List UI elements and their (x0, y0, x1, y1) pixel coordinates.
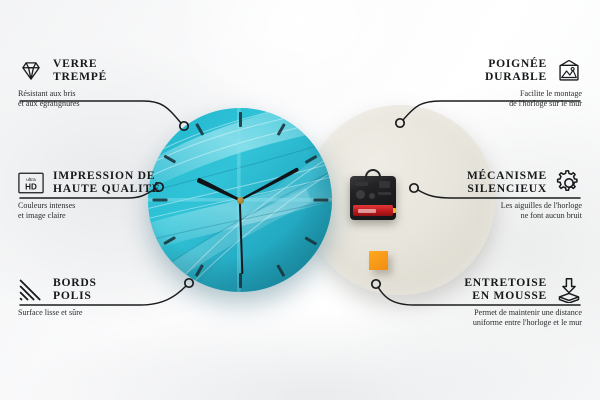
diamond-icon (18, 58, 44, 84)
feature-description: Les aiguilles de l'horloge ne font aucun… (392, 201, 582, 222)
foam-spacer-icon (556, 277, 582, 303)
feature-bords-polis[interactable]: BORDS POLIS Surface lisse et sûre (18, 277, 188, 318)
feature-mecanisme-silencieux[interactable]: MÉCANISME SILENCIEUX Les aiguilles de l'… (392, 170, 582, 222)
feature-title: MÉCANISME SILENCIEUX (467, 170, 547, 196)
feature-title: VERRE TREMPÉ (53, 58, 107, 84)
feature-description: Résistant aux bris et aux égratignures (18, 89, 188, 110)
feature-verre-trempe[interactable]: VERRE TREMPÉ Résistant aux bris et aux é… (18, 58, 188, 110)
feature-title: ENTRETOISE EN MOUSSE (464, 277, 547, 303)
feature-description: Facilite le montage de l'horloge sur le … (402, 89, 582, 110)
ultra-hd-bottom-label: HD (25, 183, 37, 192)
gear-icon (556, 170, 582, 196)
hatched-edge-icon (18, 277, 44, 303)
feature-entretoise-en-mousse[interactable]: ENTRETOISE EN MOUSSE Permet de maintenir… (367, 277, 582, 329)
infographic-canvas: VERRE TREMPÉ Résistant aux bris et aux é… (0, 0, 600, 400)
feature-description: Couleurs intenses et image claire (18, 201, 198, 222)
feature-impression-haute-qualite[interactable]: ultra HD IMPRESSION DE HAUTE QUALITÉ Cou… (18, 170, 198, 222)
feature-poignee-durable[interactable]: POIGNÉE DURABLE Facilite le montage de l… (402, 58, 582, 110)
feature-title: BORDS POLIS (53, 277, 97, 303)
picture-hanger-icon (556, 58, 582, 84)
feature-title: POIGNÉE DURABLE (485, 58, 547, 84)
feature-description: Permet de maintenir une distance uniform… (367, 308, 582, 329)
ultra-hd-icon: ultra HD (18, 170, 44, 196)
feature-description: Surface lisse et sûre (18, 308, 188, 318)
feature-title: IMPRESSION DE HAUTE QUALITÉ (53, 170, 160, 196)
